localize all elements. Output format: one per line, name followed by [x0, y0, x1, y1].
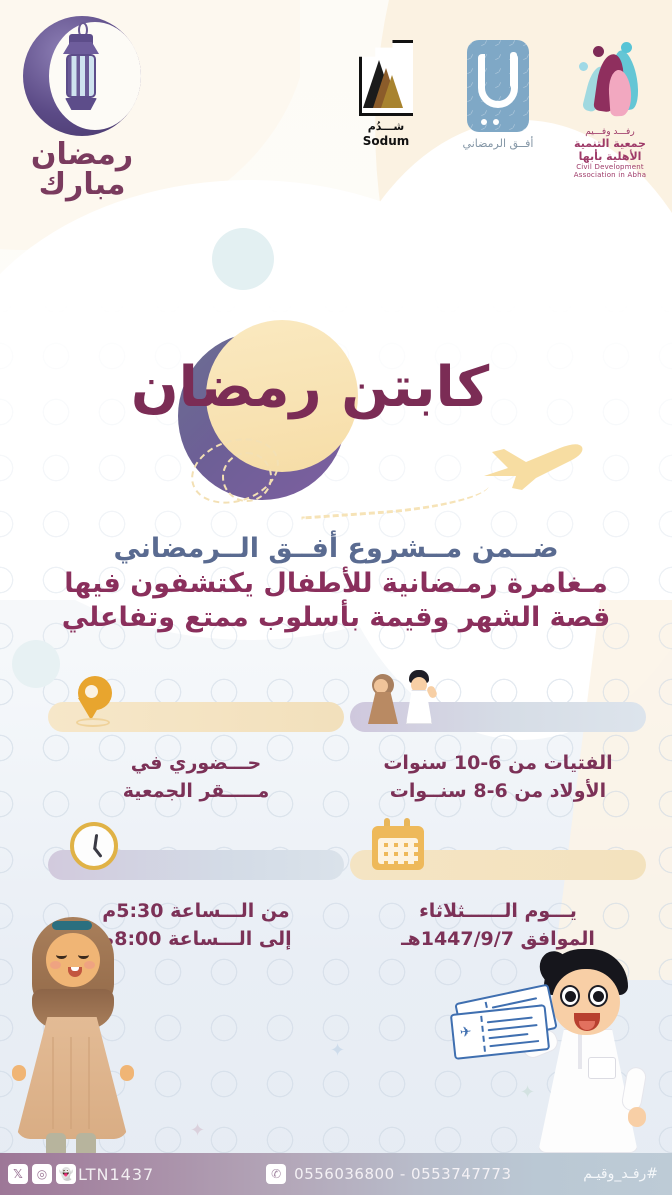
- partner-logo-cda-abha: رفـــد وفـــيم جمعية التنمية الأهلية بأب…: [562, 40, 658, 179]
- location-line-1: حـــضوري في: [48, 750, 344, 778]
- sodum-arabic-label: شـــدُم: [338, 120, 434, 133]
- phone-numbers: 0556036800 - 0553747773: [294, 1165, 511, 1183]
- description-line-3: قصة الشهر وقيمة بأسلوب ممتع وتفاعلي: [0, 601, 672, 636]
- cda-english-name: Civil Development Association in Abha: [562, 163, 658, 179]
- info-card-date: يـــوم الــــــثلاثاء الموافق 1447/9/7هـ: [350, 850, 646, 953]
- partner-logo-sodum: شـــدُم Sodum: [338, 40, 434, 148]
- description-block: ضــمن مــشروع أفــق الــرمضاني مـغامرة ر…: [0, 532, 672, 636]
- info-card-location: حـــضوري في مـــــقر الجمعية: [48, 702, 344, 805]
- page-title: كابتن رمضان: [0, 355, 620, 420]
- phone-group[interactable]: ✆ 0556036800 - 0553747773: [266, 1164, 511, 1184]
- kids-icon: [368, 670, 450, 724]
- orbit-dash-2: [222, 452, 272, 502]
- poster-root: ✦ ✦ ✦ رمضان مبارك شـــد: [0, 0, 672, 1195]
- ramadan-word-line2: مبارك: [14, 170, 150, 200]
- x-icon[interactable]: 𝕏: [8, 1164, 28, 1184]
- ramadan-mubarak-logo: رمضان مبارك: [14, 16, 150, 200]
- date-line-1: يـــوم الــــــثلاثاء: [350, 898, 646, 926]
- description-line-1: ضــمن مــشروع أفــق الــرمضاني: [0, 532, 672, 567]
- hero-section: كابتن رمضان: [0, 300, 672, 530]
- boarding-tickets: ✈ ✈: [452, 993, 560, 1061]
- ofoq-caption: أفــق الرمضاني: [450, 137, 546, 150]
- phone-icon: ✆: [266, 1164, 286, 1184]
- audience-line-1: الفتيات من 6-10 سنوات: [350, 750, 646, 778]
- hashtag: #رفـد_وقيـم: [583, 1166, 658, 1182]
- snapchat-icon[interactable]: 👻: [56, 1164, 76, 1184]
- decor-star-icon: ✦: [330, 1040, 345, 1061]
- partner-logos: شـــدُم Sodum أفــق الرمضاني رفـــد وفــ…: [338, 40, 658, 200]
- map-pin-icon: [74, 676, 112, 724]
- decorative-circle: [212, 228, 274, 290]
- girl-character: [8, 907, 136, 1157]
- time-pill: [48, 850, 344, 880]
- location-pill: [48, 702, 344, 732]
- info-card-audience: الفتيات من 6-10 سنوات الأولاد من 6-8 سنـ…: [350, 702, 646, 805]
- audience-line-2: الأولاد من 6-8 سنــوات: [350, 778, 646, 806]
- social-handle: LTN1437: [78, 1165, 154, 1184]
- decorative-circle: [12, 640, 60, 688]
- footer-bar: 𝕏 ◎ 👻 LTN1437 ✆ 0556036800 - 0553747773 …: [0, 1153, 672, 1195]
- header: رمضان مبارك شـــدُم Sodum أفــق الرمضاني: [0, 0, 672, 230]
- location-line-2: مـــــقر الجمعية: [48, 778, 344, 806]
- plane-trail: [299, 469, 491, 519]
- calendar-icon: [372, 822, 424, 870]
- audience-pill: [350, 702, 646, 732]
- partner-logo-ofoq: أفــق الرمضاني: [450, 40, 546, 150]
- social-icons[interactable]: 𝕏 ◎ 👻: [8, 1164, 76, 1184]
- ofoq-app-icon: [467, 40, 529, 132]
- decor-star-icon: ✦: [190, 1120, 205, 1141]
- people-flame-icon: [571, 40, 649, 124]
- date-pill: [350, 850, 646, 880]
- clock-icon: [70, 822, 118, 870]
- cda-arabic-name: جمعية التنمية الأهلية بأبها: [562, 137, 658, 163]
- airplane-icon: [474, 432, 594, 492]
- description-line-2: مـغامرة رمـضانية للأطفال يكتشفون فيها: [0, 567, 672, 602]
- crescent-lantern-icon: [23, 16, 141, 136]
- instagram-icon[interactable]: ◎: [32, 1164, 52, 1184]
- cda-tagline: رفـــد وفـــيم: [562, 127, 658, 137]
- sodum-english-label: Sodum: [338, 134, 434, 148]
- ramadan-word-line1: رمضان: [14, 140, 150, 170]
- mountain-monogram-icon: [359, 40, 413, 116]
